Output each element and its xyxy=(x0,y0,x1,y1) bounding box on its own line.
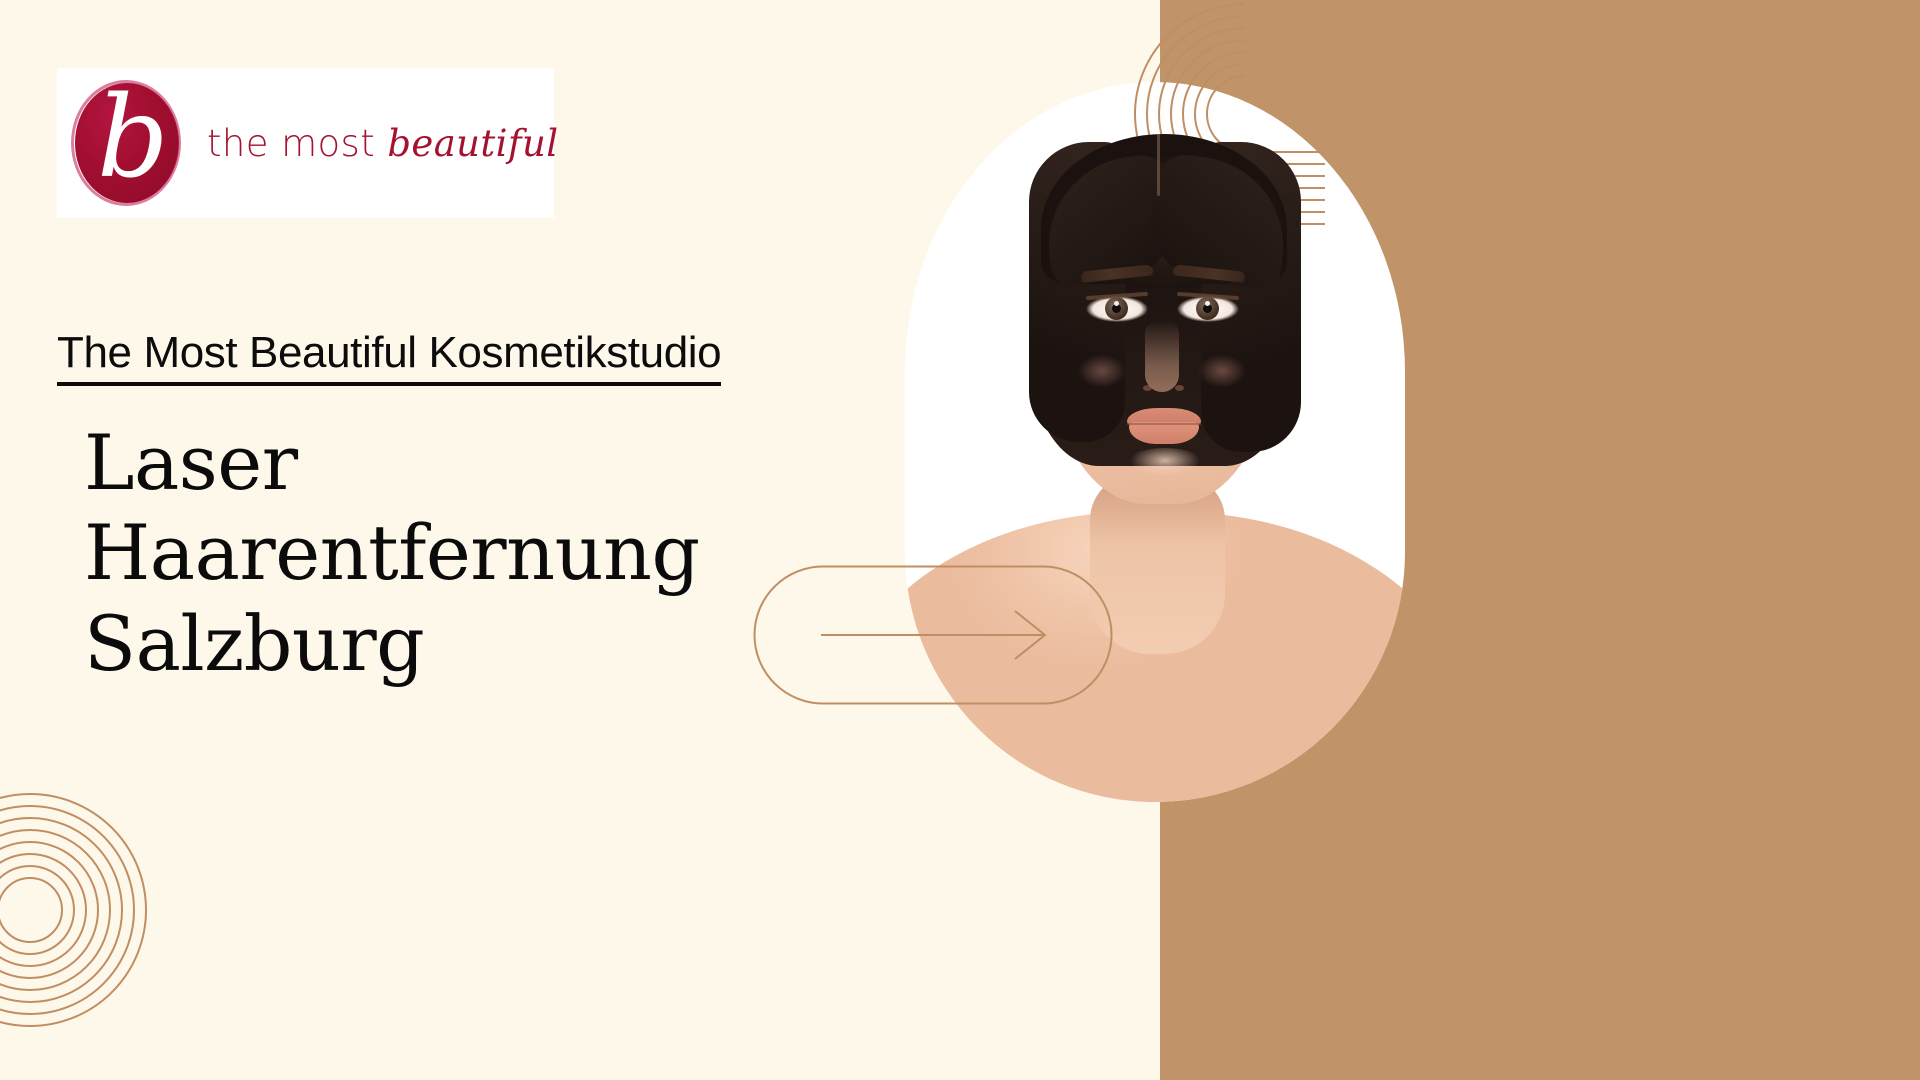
portrait-hair-part xyxy=(1157,134,1160,196)
headline-line-1: Laser xyxy=(84,418,700,508)
portrait-nostril-left xyxy=(1143,385,1152,391)
studio-name-subheading: The Most Beautiful Kosmetikstudio xyxy=(57,330,721,386)
brand-logo[interactable]: b the most beautiful xyxy=(57,68,554,218)
portrait-lip-line xyxy=(1127,423,1201,425)
portrait-cheek-left xyxy=(1069,348,1135,394)
logo-wordmark-plain: the most xyxy=(207,122,387,165)
logo-monogram-mark: b xyxy=(67,81,185,205)
headline-line-3: Salzburg xyxy=(84,599,700,689)
concentric-corner-arcs-icon xyxy=(0,700,240,1030)
logo-wordmark: the most beautiful xyxy=(207,122,558,165)
portrait-eye-glint-right xyxy=(1205,301,1210,306)
headline-line-2: Haarentfernung xyxy=(84,508,700,598)
poster-canvas: b the most beautiful The Most Beautiful … xyxy=(0,0,1920,1080)
pill-arrow-decoration-icon xyxy=(753,565,1113,705)
portrait-nostril-right xyxy=(1175,385,1184,391)
portrait-eye-glint-left xyxy=(1114,301,1119,306)
portrait-cheek-right xyxy=(1189,348,1255,394)
logo-wordmark-italic: beautiful xyxy=(387,122,558,165)
portrait-nose xyxy=(1145,320,1179,392)
logo-letter-b: b xyxy=(97,79,157,201)
portrait-chin-highlight xyxy=(1119,448,1211,490)
page-title: Laser Haarentfernung Salzburg xyxy=(84,418,700,689)
